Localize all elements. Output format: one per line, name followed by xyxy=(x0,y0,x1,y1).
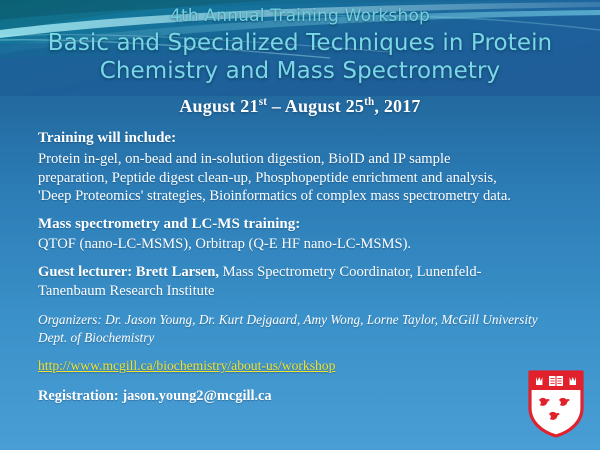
workshop-poster: 4th Annual Training Workshop Basic and S… xyxy=(0,0,600,450)
date-ordinal-first: st xyxy=(259,96,267,108)
date-suffix: , 2017 xyxy=(374,96,420,116)
header-banner: 4th Annual Training Workshop Basic and S… xyxy=(0,0,600,96)
organizers-line: Organizers: Dr. Jason Young, Dr. Kurt De… xyxy=(38,311,538,346)
registration-line: Registration: jason.young2@mcgill.ca xyxy=(38,387,568,406)
training-heading: Training will include: xyxy=(38,128,568,148)
poster-eyebrow: 4th Annual Training Workshop xyxy=(0,0,600,27)
training-description: Protein in-gel, on-bead and in-solution … xyxy=(38,150,512,206)
mass-spectrometry-instruments: QTOF (nano-LC-MSMS), Orbitrap (Q-E HF na… xyxy=(38,235,568,254)
date-middle: – August 25 xyxy=(267,96,364,116)
date-prefix: August 21 xyxy=(179,96,258,116)
banner-text-block: 4th Annual Training Workshop Basic and S… xyxy=(0,0,600,85)
poster-title-line-1: Basic and Specialized Techniques in Prot… xyxy=(0,29,600,57)
date-ordinal-second: th xyxy=(364,96,374,108)
guest-lecturer-line: Guest lecturer: Brett Larsen, Mass Spect… xyxy=(38,263,538,301)
poster-title-line-2: Chemistry and Mass Spectrometry xyxy=(0,57,600,85)
poster-body: Training will include: Protein in-gel, o… xyxy=(38,128,568,406)
open-book-icon xyxy=(549,376,563,386)
mass-spectrometry-heading: Mass spectrometry and LC-MS training: xyxy=(38,215,568,235)
poster-title: Basic and Specialized Techniques in Prot… xyxy=(0,27,600,85)
workshop-url-link[interactable]: http://www.mcgill.ca/biochemistry/about-… xyxy=(38,358,335,373)
mcgill-shield-logo xyxy=(528,370,584,438)
guest-lecturer-label: Guest lecturer: Brett Larsen, xyxy=(38,264,219,280)
workshop-url-line: http://www.mcgill.ca/biochemistry/about-… xyxy=(38,357,568,375)
event-date-line: August 21st – August 25th, 2017 xyxy=(0,96,600,117)
